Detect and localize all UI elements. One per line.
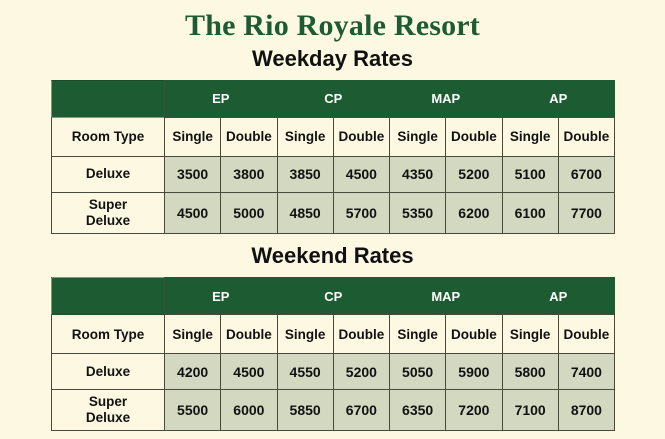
plan-header-ep: EP bbox=[165, 278, 278, 315]
occupancy-header-row: Room Type Single Double Single Double Si… bbox=[52, 315, 615, 354]
plan-header-map: MAP bbox=[390, 80, 503, 117]
rate-cell: 5900 bbox=[446, 354, 502, 390]
occupancy-header-ep-double: Double bbox=[221, 117, 277, 156]
rate-cell: 6700 bbox=[558, 156, 614, 192]
section-title-weekend: Weekend Rates bbox=[0, 234, 665, 277]
room-type-line1: Deluxe bbox=[52, 166, 164, 182]
room-type-cell: Super Deluxe bbox=[52, 192, 165, 233]
rate-cell: 5100 bbox=[502, 156, 558, 192]
occupancy-header-ep-single: Single bbox=[165, 315, 221, 354]
rate-cell: 4850 bbox=[277, 192, 333, 233]
rate-cell: 4500 bbox=[221, 354, 277, 390]
rate-cell: 5850 bbox=[277, 390, 333, 431]
room-type-cell: Super Deluxe bbox=[52, 390, 165, 431]
rate-cell: 5200 bbox=[333, 354, 389, 390]
occupancy-header-cp-single: Single bbox=[277, 315, 333, 354]
occupancy-header-cp-double: Double bbox=[333, 117, 389, 156]
plan-header-ap: AP bbox=[502, 80, 615, 117]
occupancy-header-map-double: Double bbox=[446, 315, 502, 354]
section-title-weekday: Weekday Rates bbox=[0, 42, 665, 79]
room-type-line2: Deluxe bbox=[52, 410, 164, 426]
rate-cell: 5350 bbox=[390, 192, 446, 233]
plan-header-ep: EP bbox=[165, 80, 278, 117]
room-type-line2: Deluxe bbox=[52, 213, 164, 229]
plan-header-ap: AP bbox=[502, 278, 615, 315]
rate-cell: 5000 bbox=[221, 192, 277, 233]
rate-cell: 7100 bbox=[502, 390, 558, 431]
corner-cell bbox=[52, 80, 165, 117]
room-type-cell: Deluxe bbox=[52, 354, 165, 390]
rate-cell: 3800 bbox=[221, 156, 277, 192]
rate-cell: 4500 bbox=[333, 156, 389, 192]
rate-cell: 3500 bbox=[165, 156, 221, 192]
page-title: The Rio Royale Resort bbox=[0, 0, 665, 42]
table-row: Deluxe 4200 4500 4550 5200 5050 5900 580… bbox=[52, 354, 615, 390]
occupancy-header-ap-double: Double bbox=[558, 117, 614, 156]
room-type-line1: Super bbox=[52, 394, 164, 410]
rate-cell: 5050 bbox=[390, 354, 446, 390]
rate-cell: 4550 bbox=[277, 354, 333, 390]
rate-cell: 8700 bbox=[558, 390, 614, 431]
rate-cell: 6350 bbox=[390, 390, 446, 431]
occupancy-header-map-single: Single bbox=[390, 315, 446, 354]
occupancy-header-map-double: Double bbox=[446, 117, 502, 156]
rate-cell: 6000 bbox=[221, 390, 277, 431]
room-type-line1: Deluxe bbox=[52, 364, 164, 380]
plan-header-row: EP CP MAP AP bbox=[52, 278, 615, 315]
occupancy-header-ep-single: Single bbox=[165, 117, 221, 156]
room-type-header: Room Type bbox=[52, 315, 165, 354]
rate-cell: 7400 bbox=[558, 354, 614, 390]
rate-cell: 4200 bbox=[165, 354, 221, 390]
rate-cell: 3850 bbox=[277, 156, 333, 192]
rate-cell: 5500 bbox=[165, 390, 221, 431]
rate-cell: 7700 bbox=[558, 192, 614, 233]
weekend-rates-table: EP CP MAP AP Room Type Single Double Sin… bbox=[51, 277, 615, 431]
occupancy-header-ep-double: Double bbox=[221, 315, 277, 354]
weekend-table-wrapper: EP CP MAP AP Room Type Single Double Sin… bbox=[51, 277, 614, 431]
rate-cell: 5700 bbox=[333, 192, 389, 233]
table-row: Super Deluxe 5500 6000 5850 6700 6350 72… bbox=[52, 390, 615, 431]
rate-cell: 6200 bbox=[446, 192, 502, 233]
rate-cell: 4350 bbox=[390, 156, 446, 192]
occupancy-header-cp-single: Single bbox=[277, 117, 333, 156]
rate-card-page: The Rio Royale Resort Weekday Rates EP C… bbox=[0, 0, 665, 439]
plan-header-map: MAP bbox=[390, 278, 503, 315]
rate-cell: 6700 bbox=[333, 390, 389, 431]
rate-cell: 5800 bbox=[502, 354, 558, 390]
corner-cell bbox=[52, 278, 165, 315]
plan-header-cp: CP bbox=[277, 80, 390, 117]
weekday-rates-table: EP CP MAP AP Room Type Single Double Sin… bbox=[51, 80, 615, 234]
rate-cell: 7200 bbox=[446, 390, 502, 431]
occupancy-header-cp-double: Double bbox=[333, 315, 389, 354]
rate-cell: 5200 bbox=[446, 156, 502, 192]
room-type-line1: Super bbox=[52, 197, 164, 213]
occupancy-header-row: Room Type Single Double Single Double Si… bbox=[52, 117, 615, 156]
room-type-header: Room Type bbox=[52, 117, 165, 156]
room-type-cell: Deluxe bbox=[52, 156, 165, 192]
occupancy-header-ap-double: Double bbox=[558, 315, 614, 354]
rate-cell: 6100 bbox=[502, 192, 558, 233]
plan-header-cp: CP bbox=[277, 278, 390, 315]
weekday-table-wrapper: EP CP MAP AP Room Type Single Double Sin… bbox=[51, 80, 614, 234]
table-row: Super Deluxe 4500 5000 4850 5700 5350 62… bbox=[52, 192, 615, 233]
occupancy-header-ap-single: Single bbox=[502, 315, 558, 354]
plan-header-row: EP CP MAP AP bbox=[52, 80, 615, 117]
occupancy-header-map-single: Single bbox=[390, 117, 446, 156]
occupancy-header-ap-single: Single bbox=[502, 117, 558, 156]
rate-cell: 4500 bbox=[165, 192, 221, 233]
table-row: Deluxe 3500 3800 3850 4500 4350 5200 510… bbox=[52, 156, 615, 192]
